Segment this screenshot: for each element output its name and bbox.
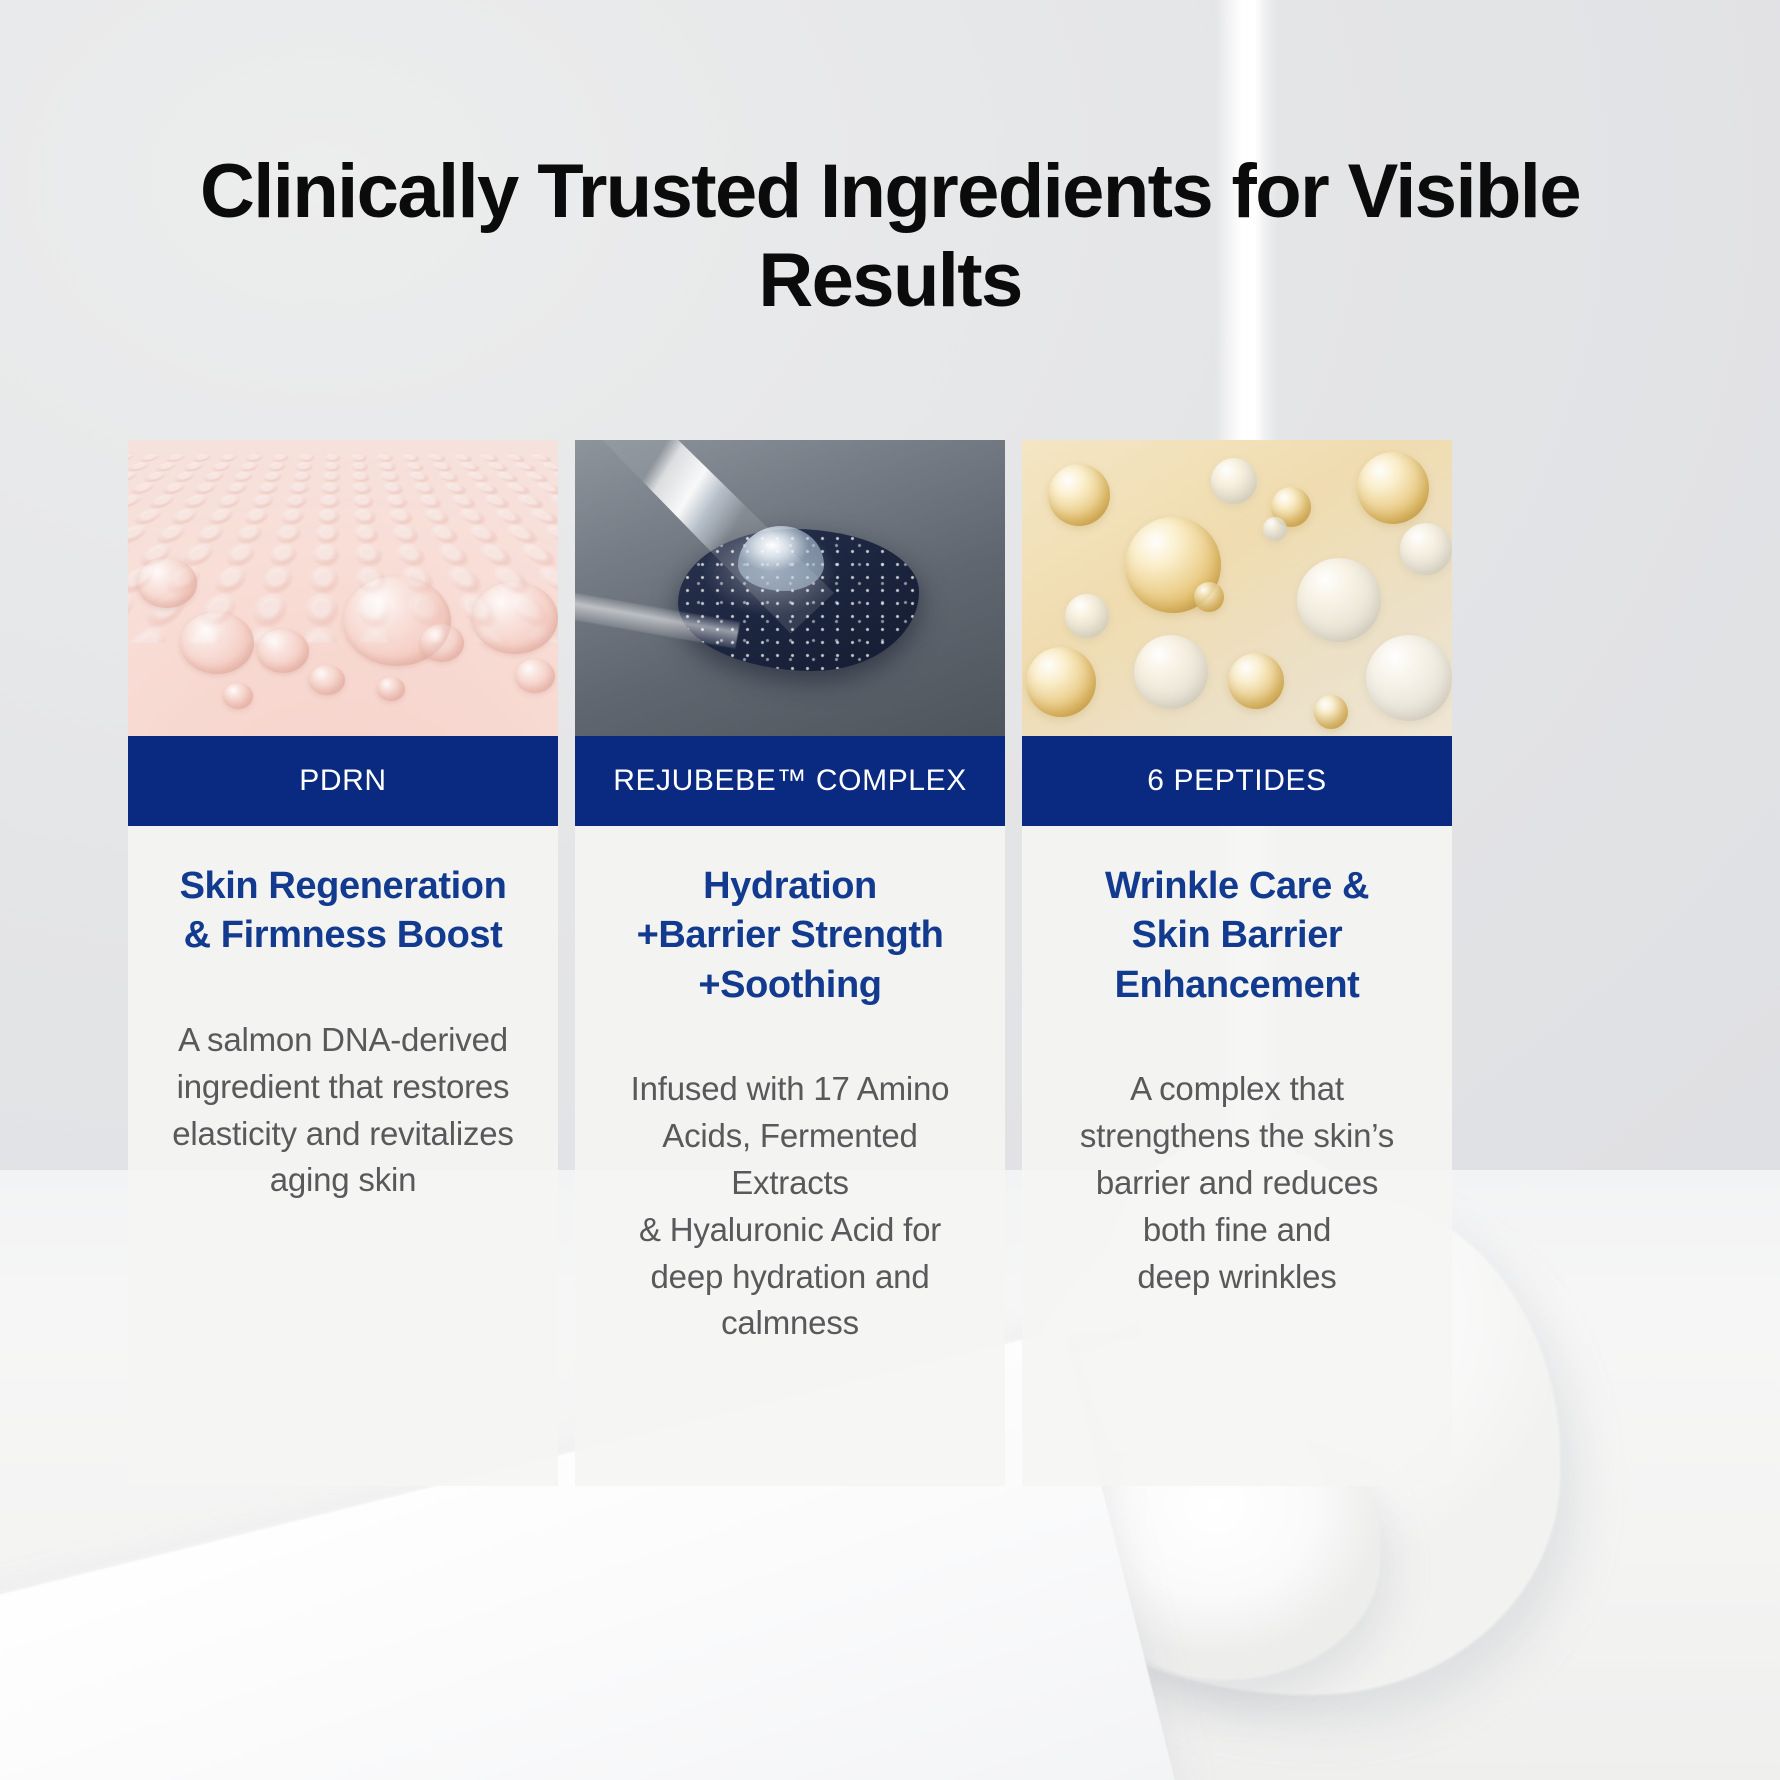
card-header-label: REJUBEBE™ COMPLEX <box>613 764 967 798</box>
pearl-bubble-icon <box>1211 458 1257 504</box>
pearl-bubble-icon <box>1366 635 1452 721</box>
ingredient-card-rejubebe-complex[interactable]: REJUBEBE™ COMPLEX Hydration +Barrier Str… <box>575 440 1005 1486</box>
gold-pearl-bubbles-image <box>1022 440 1452 736</box>
card-description-text: A complex that strengthens the skin’s ba… <box>1080 1066 1394 1300</box>
card-body-pdrn: Skin Regeneration & Firmness Boost A sal… <box>128 826 558 1486</box>
card-header-rejubebe-complex: REJUBEBE™ COMPLEX <box>575 736 1005 826</box>
gold-bubble-icon <box>1194 582 1224 612</box>
droplet-icon <box>223 683 253 709</box>
droplet-icon <box>377 677 405 701</box>
card-header-pdrn: PDRN <box>128 736 558 826</box>
card-description-text: A salmon DNA-derived ingredient that res… <box>172 1017 513 1204</box>
card-header-label: 6 PEPTIDES <box>1147 764 1326 798</box>
droplet-icon <box>257 629 309 673</box>
pearl-bubble-icon <box>1065 594 1109 638</box>
card-header-label: PDRN <box>299 764 386 798</box>
gold-bubble-icon <box>1357 452 1429 524</box>
droplet-icon <box>515 659 555 693</box>
card-header-6-peptides: 6 PEPTIDES <box>1022 736 1452 826</box>
droplet-icon <box>137 558 197 608</box>
ingredient-card-row: PDRN Skin Regeneration & Firmness Boost … <box>128 440 1453 1486</box>
droplet-icon <box>472 582 558 654</box>
pearl-bubble-icon <box>1263 517 1287 541</box>
ingredient-card-6-peptides[interactable]: 6 PEPTIDES Wrinkle Care & Skin Barrier E… <box>1022 440 1452 1486</box>
card-body-6-peptides: Wrinkle Care & Skin Barrier Enhancement … <box>1022 826 1452 1486</box>
ingredient-infographic-page: Clinically Trusted Ingredients for Visib… <box>0 0 1780 1780</box>
page-title: Clinically Trusted Ingredients for Visib… <box>0 148 1780 326</box>
card-benefit-text: Hydration +Barrier Strength +Soothing <box>637 862 944 1010</box>
droplet-icon <box>420 624 464 662</box>
card-benefit-text: Wrinkle Care & Skin Barrier Enhancement <box>1105 862 1369 1010</box>
pearl-bubble-icon <box>1134 635 1208 709</box>
card-description-text: Infused with 17 Amino Acids, Fermented E… <box>601 1066 979 1347</box>
gold-bubble-icon <box>1048 464 1110 526</box>
dropper-blue-gel-image <box>575 440 1005 736</box>
droplet-icon <box>309 665 345 695</box>
pearl-bubble-icon <box>1400 523 1452 575</box>
gold-bubble-icon <box>1026 647 1096 717</box>
gold-bubble-icon <box>1228 653 1284 709</box>
gold-bubble-icon <box>1314 695 1348 729</box>
droplet-icon <box>180 612 254 674</box>
ingredient-card-pdrn[interactable]: PDRN Skin Regeneration & Firmness Boost … <box>128 440 558 1486</box>
card-body-rejubebe-complex: Hydration +Barrier Strength +Soothing In… <box>575 826 1005 1486</box>
pink-skin-droplets-image <box>128 440 558 736</box>
pearl-bubble-icon <box>1297 558 1381 642</box>
card-benefit-text: Skin Regeneration & Firmness Boost <box>180 862 507 961</box>
